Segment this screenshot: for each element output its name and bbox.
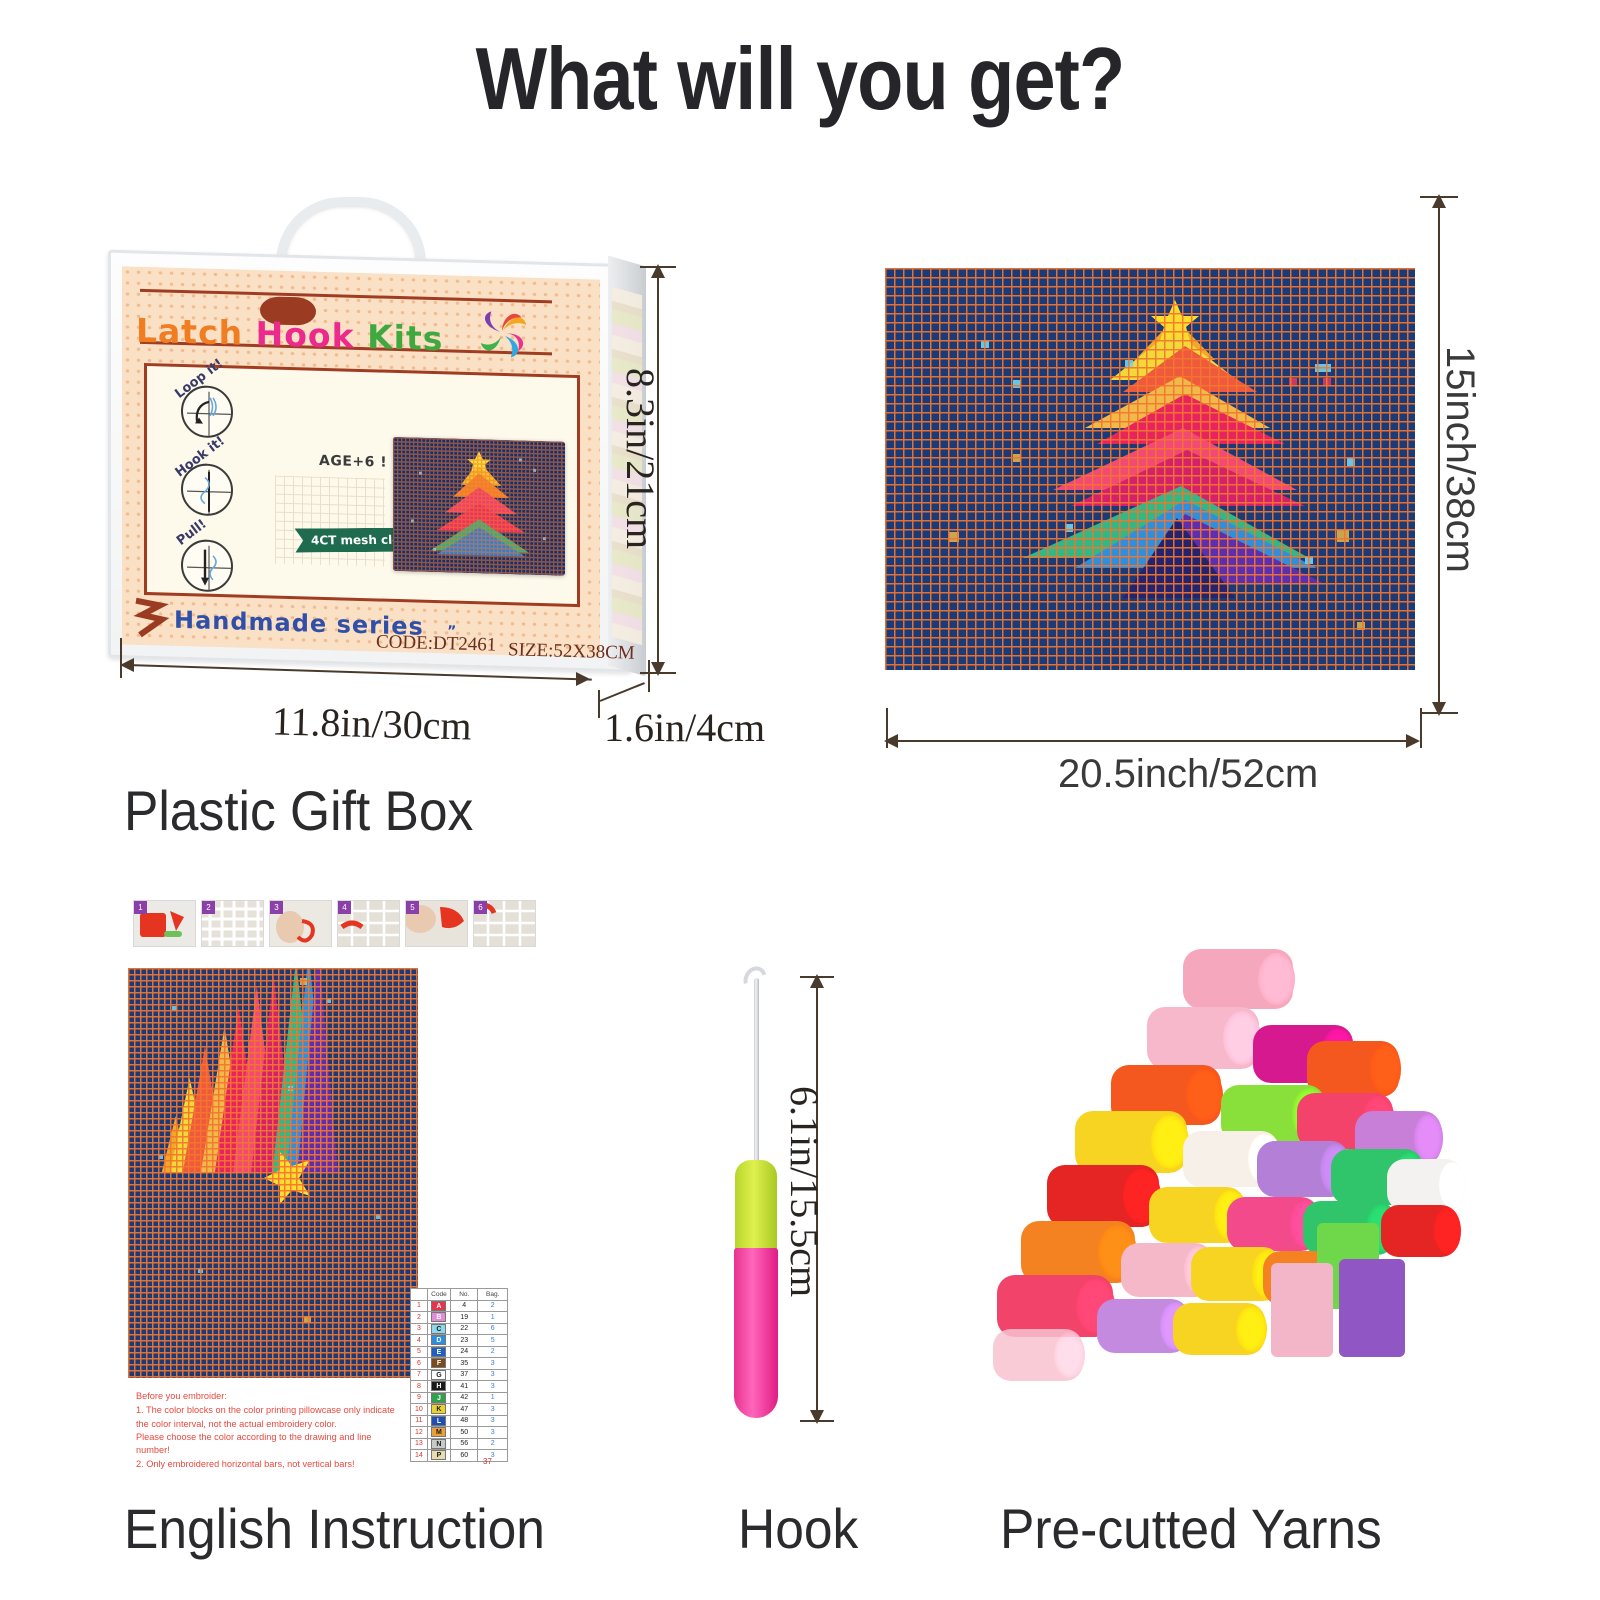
- cell-no: 56: [451, 1438, 478, 1450]
- cell-no: 37: [451, 1369, 478, 1381]
- cell-code: M: [427, 1427, 450, 1439]
- hook-length-label: 6.1in/15.5cm: [781, 1086, 828, 1297]
- yarn-bundle: [1047, 1165, 1159, 1227]
- cell-no: 22: [451, 1323, 478, 1335]
- tree-preview-photo: [393, 437, 565, 576]
- cell-index: 12: [411, 1427, 428, 1439]
- col-code: Code: [427, 1289, 450, 1301]
- product-infographic: What will you get? Latch Hook Kits: [0, 0, 1600, 1600]
- yarn-color-table: Code No. Bag. 1A422B1913C2264D2355E2426F…: [410, 1288, 508, 1462]
- cell-index: 3: [411, 1323, 428, 1335]
- cell-bag: 3: [478, 1358, 508, 1370]
- product-code-label: CODE:DT2461: [376, 631, 497, 656]
- canvas-width-arrow-right: [1406, 734, 1420, 748]
- cell-code: E: [427, 1346, 450, 1358]
- thumbnail-badge: 4: [338, 901, 351, 914]
- page-title: What will you get?: [112, 28, 1488, 130]
- cell-bag: 3: [478, 1369, 508, 1381]
- cell-no: 19: [451, 1312, 478, 1324]
- instruction-thumbnail: 5 5: [405, 900, 468, 947]
- step-diagram-pull: [181, 539, 233, 592]
- table-row: 10K473: [411, 1404, 508, 1416]
- table-row: 1A42: [411, 1300, 508, 1312]
- canvas-height-arrow-down: [1432, 702, 1446, 716]
- table-row: 5E242: [411, 1346, 508, 1358]
- cell-bag: 2: [478, 1346, 508, 1358]
- cell-index: 2: [411, 1312, 428, 1324]
- printed-canvas-image: [885, 268, 1415, 670]
- cell-code: P: [427, 1450, 450, 1462]
- cell-index: 4: [411, 1335, 428, 1347]
- thumbnail-badge: 2: [202, 901, 215, 914]
- col-bag: Bag.: [478, 1289, 508, 1301]
- step-diagram-loop: [181, 385, 233, 438]
- standing-yarn-bundle: [1271, 1263, 1333, 1357]
- cell-code: C: [427, 1323, 450, 1335]
- cell-code: B: [427, 1312, 450, 1324]
- caption-instruction: English Instruction: [124, 1496, 545, 1561]
- thumbnail-badge: 6: [474, 901, 487, 914]
- cell-code: D: [427, 1335, 450, 1347]
- product-size-label: SIZE:52X38CM: [508, 639, 635, 665]
- yarn-bundle: [1021, 1221, 1135, 1283]
- gift-box-width-label: 11.8in/30cm: [271, 697, 472, 749]
- yarn-bundle: [1307, 1041, 1399, 1097]
- width-dim-arrow-right: [576, 672, 590, 686]
- table-row: 9J421: [411, 1392, 508, 1404]
- before-you-embroider-note: Before you embroider: 1. The color block…: [136, 1390, 406, 1471]
- depth-dim-tick-left: [598, 690, 600, 718]
- note-heading: Before you embroider:: [136, 1390, 406, 1403]
- hook-dim-arrow-up: [810, 974, 824, 988]
- cell-bag: 3: [478, 1404, 508, 1416]
- cell-code: K: [427, 1404, 450, 1416]
- cell-bag: 3: [478, 1381, 508, 1393]
- instruction-thumbnail: 1 1: [133, 900, 196, 947]
- brand-word-latch: Latch: [136, 311, 243, 353]
- cell-bag: 2: [478, 1300, 508, 1312]
- step-diagram-hook: [181, 463, 233, 516]
- cell-no: 42: [451, 1392, 478, 1404]
- box-front-artwork: Latch Hook Kits Loop it!: [122, 266, 600, 657]
- color-table-total: 37: [483, 1457, 492, 1466]
- instruction-thumbnail: 2 2: [201, 900, 264, 947]
- canvas-width-line: [890, 740, 1418, 742]
- gift-box-depth-label: 1.6in/4cm: [604, 704, 765, 751]
- cell-index: 11: [411, 1415, 428, 1427]
- cell-bag: 2: [478, 1438, 508, 1450]
- instruction-thumbnail: 6 6: [473, 900, 536, 947]
- thumbnail-badge: 3: [270, 901, 283, 914]
- english-instruction-image: 1 1 2 2 3 3 4: [128, 900, 528, 1475]
- caption-hook: Hook: [738, 1496, 858, 1561]
- cell-no: 35: [451, 1358, 478, 1370]
- cell-index: 13: [411, 1438, 428, 1450]
- cell-code: G: [427, 1369, 450, 1381]
- height-dim-arrow-down: [651, 662, 665, 676]
- note-line-1: 1. The color blocks on the color printin…: [136, 1405, 395, 1415]
- hook-handle-lower: [734, 1248, 778, 1418]
- canvas-width-arrow-left: [884, 734, 898, 748]
- cell-index: 8: [411, 1381, 428, 1393]
- yarn-bundle: [993, 1329, 1083, 1381]
- canvas-height-label: 15inch/38cm: [1437, 346, 1482, 573]
- col-index: [411, 1289, 428, 1301]
- depth-dim-tick-right: [648, 660, 650, 692]
- brand-word-kits: Kits: [367, 317, 443, 358]
- height-dim-arrow-up: [651, 264, 665, 278]
- pinwheel-logo-icon: [474, 304, 532, 364]
- cell-bag: 5: [478, 1335, 508, 1347]
- col-no: No.: [451, 1289, 478, 1301]
- cell-code: N: [427, 1438, 450, 1450]
- instruction-thumbnail: 3 3: [269, 900, 332, 947]
- cell-code: H: [427, 1381, 450, 1393]
- table-row: 11L483: [411, 1415, 508, 1427]
- cell-bag: 3: [478, 1427, 508, 1439]
- brand-word-hook: Hook: [256, 314, 355, 356]
- yarn-bundle: [997, 1275, 1113, 1337]
- note-line-3: Please choose the color according to the…: [136, 1432, 371, 1455]
- cell-index: 7: [411, 1369, 428, 1381]
- brand-title: Latch Hook Kits: [136, 311, 443, 359]
- table-row: 3C226: [411, 1323, 508, 1335]
- instruction-thumbnail-strip: 1 1 2 2 3 3 4: [133, 900, 536, 947]
- table-row: 13N562: [411, 1438, 508, 1450]
- box-handle: [276, 197, 426, 263]
- cell-no: 48: [451, 1415, 478, 1427]
- cell-index: 14: [411, 1450, 428, 1462]
- note-line-2: the color interval, not the actual embro…: [136, 1419, 337, 1429]
- cell-no: 24: [451, 1346, 478, 1358]
- table-row: 12M503: [411, 1427, 508, 1439]
- canvas-width-tick-right: [1420, 708, 1422, 748]
- thumbnail-badge: 1: [134, 901, 147, 914]
- pre-cut-yarns-image: [935, 925, 1465, 1415]
- caption-gift-box: Plastic Gift Box: [124, 778, 473, 843]
- cell-bag: 1: [478, 1312, 508, 1324]
- hook-needle: [754, 978, 759, 1178]
- table-row: 8H413: [411, 1381, 508, 1393]
- table-row: 7G373: [411, 1369, 508, 1381]
- cell-no: 4: [451, 1300, 478, 1312]
- instruction-thumbnail: 4 4: [337, 900, 400, 947]
- cell-index: 1: [411, 1300, 428, 1312]
- cell-bag: 3: [478, 1415, 508, 1427]
- cell-no: 23: [451, 1335, 478, 1347]
- cell-code: J: [427, 1392, 450, 1404]
- table-row: 2B191: [411, 1312, 508, 1324]
- yarn-bundle: [1381, 1205, 1459, 1257]
- cell-no: 47: [451, 1404, 478, 1416]
- hook-handle-upper: [735, 1160, 777, 1252]
- hook-dim-arrow-down: [810, 1410, 824, 1424]
- cell-no: 60: [451, 1450, 478, 1462]
- handmade-flag-icon: [130, 597, 170, 640]
- gift-box-image: Latch Hook Kits Loop it!: [108, 195, 653, 695]
- cell-index: 6: [411, 1358, 428, 1370]
- yarn-bundle: [1075, 1111, 1187, 1173]
- table-row: 6F353: [411, 1358, 508, 1370]
- cell-index: 9: [411, 1392, 428, 1404]
- canvas-width-label: 20.5inch/52cm: [1058, 752, 1318, 797]
- cell-bag: 6: [478, 1323, 508, 1335]
- instruction-pattern-chart: [128, 968, 418, 1378]
- cell-code: L: [427, 1415, 450, 1427]
- mesh-cloth-swatch: [275, 476, 385, 567]
- yarn-bundle: [1183, 949, 1293, 1009]
- yarn-bundle: [1147, 1007, 1259, 1069]
- cell-index: 5: [411, 1346, 428, 1358]
- instruction-panel: Loop it! Hook it!: [144, 363, 580, 607]
- yarn-bundle: [1387, 1159, 1463, 1211]
- cell-bag: 1: [478, 1392, 508, 1404]
- cell-no: 50: [451, 1427, 478, 1439]
- cell-code: A: [427, 1300, 450, 1312]
- table-row: 14P603: [411, 1450, 508, 1462]
- cell-no: 41: [451, 1381, 478, 1393]
- table-row: 4D235: [411, 1335, 508, 1347]
- standing-yarn-bundle: [1339, 1259, 1405, 1357]
- cell-code: F: [427, 1358, 450, 1370]
- table-header-row: Code No. Bag.: [411, 1289, 508, 1301]
- note-line-4: 2. Only embroidered horizontal bars, not…: [136, 1459, 355, 1469]
- caption-yarns: Pre-cutted Yarns: [1000, 1496, 1382, 1561]
- cell-index: 10: [411, 1404, 428, 1416]
- yarn-bundle: [1173, 1303, 1265, 1355]
- age-label: AGE+6 !: [319, 453, 387, 471]
- width-dim-arrow-left: [120, 658, 134, 672]
- thumbnail-badge: 5: [406, 901, 419, 914]
- gift-box-height-label: 8.3in/21cm: [617, 368, 664, 549]
- canvas-height-arrow-up: [1432, 194, 1446, 208]
